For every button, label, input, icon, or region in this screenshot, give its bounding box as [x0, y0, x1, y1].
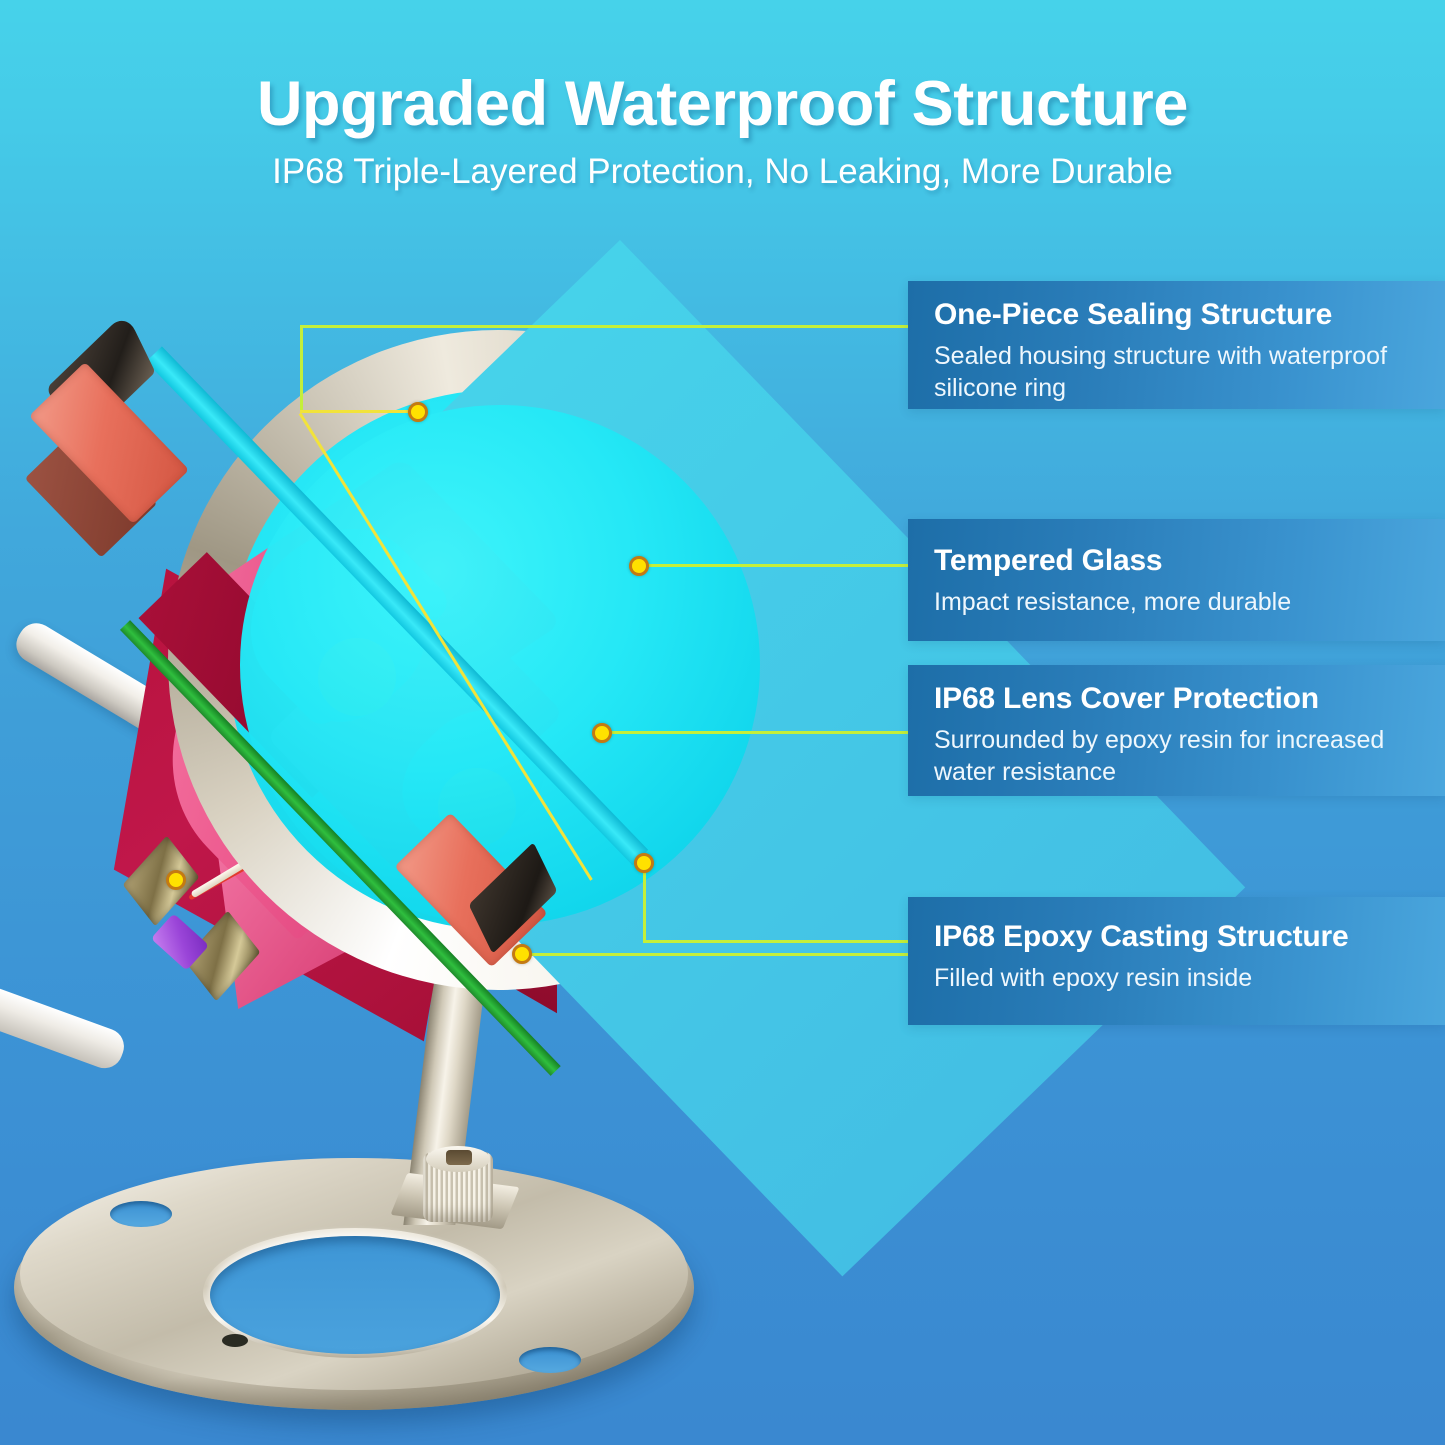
lens-cover-marker	[592, 723, 612, 743]
page-title: Upgraded Waterproof Structure	[0, 70, 1445, 138]
callout-title: IP68 Lens Cover Protection	[934, 681, 1445, 718]
infographic-canvas: Upgraded Waterproof Structure IP68 Tripl…	[0, 0, 1445, 1445]
callout-description: Filled with epoxy resin inside	[934, 962, 1445, 994]
power-cable-lower	[0, 947, 129, 1074]
leader-line-2	[648, 564, 910, 567]
cable-gland-collar-lower	[212, 918, 225, 982]
leader-line-4-lower	[524, 953, 910, 956]
callout-ip68-epoxy-casting-structure[interactable]: IP68 Epoxy Casting Structure Filled with…	[908, 897, 1445, 1025]
product-illustration	[0, 300, 900, 1445]
callout-ip68-lens-cover-protection[interactable]: IP68 Lens Cover Protection Surrounded by…	[908, 665, 1445, 796]
tempered-glass-lens	[240, 405, 760, 925]
leader-line-4-vertical	[643, 862, 646, 942]
mounting-screw-hole	[110, 1201, 172, 1227]
cable-gland-seal-marker	[166, 870, 186, 890]
callout-description: Impact resistance, more durable	[934, 586, 1445, 618]
page-subtitle: IP68 Triple-Layered Protection, No Leaki…	[0, 152, 1445, 192]
callout-title: Tempered Glass	[934, 543, 1445, 580]
mounting-screw-hole	[519, 1347, 581, 1373]
base-center-hole	[210, 1236, 500, 1354]
header-block: Upgraded Waterproof Structure IP68 Tripl…	[0, 70, 1445, 192]
leader-line-1-vertical	[300, 325, 303, 413]
callout-one-piece-sealing-structure[interactable]: One-Piece Sealing Structure Sealed housi…	[908, 281, 1445, 409]
callout-title: One-Piece Sealing Structure	[934, 297, 1445, 334]
leader-line-1-top	[300, 325, 910, 328]
tempered-glass-marker	[629, 556, 649, 576]
thumbscrew-hex-socket	[446, 1150, 472, 1165]
leader-line-4-upper	[643, 940, 910, 943]
callout-description: Surrounded by epoxy resin for increased …	[934, 724, 1445, 788]
callout-title: IP68 Epoxy Casting Structure	[934, 919, 1445, 956]
leader-line-1-stub	[300, 410, 422, 413]
leader-line-3	[611, 731, 910, 734]
epoxy-upper-marker	[634, 853, 654, 873]
vent-hole	[222, 1334, 248, 1347]
cable-gland-collar-upper	[142, 840, 155, 904]
callout-tempered-glass[interactable]: Tempered Glass Impact resistance, more d…	[908, 519, 1445, 641]
silicone-seal-marker	[408, 402, 428, 422]
callout-description: Sealed housing structure with waterproof…	[934, 340, 1445, 404]
epoxy-casting-marker	[512, 944, 532, 964]
